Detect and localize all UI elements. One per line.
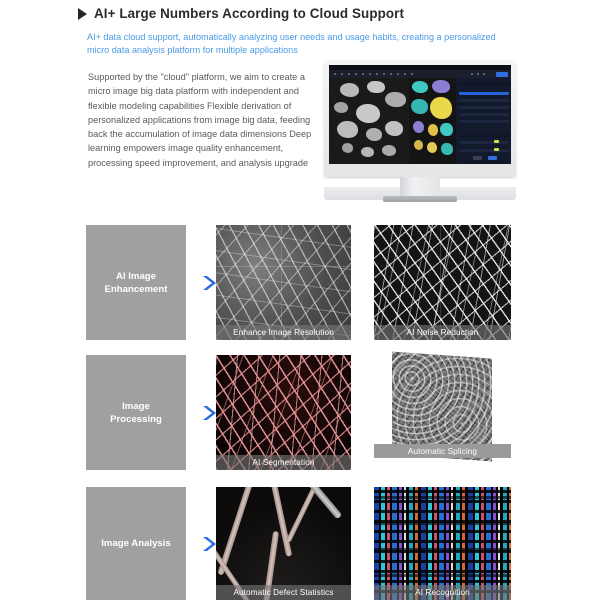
screen-data-panel	[456, 78, 511, 164]
feature-row-image-analysis: Image Analysis Automatic Defect Statisti…	[0, 487, 600, 600]
subtitle-text: AI+ data cloud support, automatically an…	[87, 31, 515, 58]
screen-segmentation-overlay	[409, 78, 456, 164]
page-title: AI+ Large Numbers According to Cloud Sup…	[94, 6, 404, 21]
row-label-line1: Image Analysis	[101, 537, 171, 550]
triangle-right-icon	[78, 8, 87, 20]
feature-cell-enhance-image-resolution[interactable]: Enhance Image Resolution	[216, 225, 351, 340]
row-label-line1: Image	[110, 400, 162, 413]
cell-caption: AI Segmentation	[216, 455, 351, 470]
monitor-stand-neck	[400, 177, 440, 198]
feature-cell-automatic-splicing[interactable]: Automatic Splicing	[374, 355, 511, 470]
screen-toolbar	[329, 70, 511, 78]
row-label-image-analysis: Image Analysis	[86, 487, 186, 600]
row-label-image-processing: Image Processing	[86, 355, 186, 470]
cell-caption: AI Noise Reduction	[374, 325, 511, 340]
row-label-line1: AI Image	[105, 270, 168, 283]
feature-cell-ai-recognition[interactable]: AI Recognition	[374, 487, 511, 600]
cell-art-branch-fibers	[216, 487, 351, 600]
cell-caption: Automatic Defect Statistics	[216, 585, 351, 600]
feature-row-ai-image-enhancement: AI Image Enhancement Enhance Image Resol…	[0, 225, 600, 340]
monitor-screen	[329, 65, 511, 164]
cell-art-fiber-grayscale	[216, 225, 351, 340]
cell-caption: AI Recognition	[374, 585, 511, 600]
screen-grayscale-image	[329, 78, 409, 164]
page-header: AI+ Large Numbers According to Cloud Sup…	[78, 6, 528, 21]
row-label-ai-image-enhancement: AI Image Enhancement	[86, 225, 186, 340]
feature-cell-automatic-defect-statistics[interactable]: Automatic Defect Statistics	[216, 487, 351, 600]
row-label-line2: Enhancement	[105, 283, 168, 296]
cell-caption: Automatic Splicing	[374, 444, 511, 458]
row-label-line2: Processing	[110, 413, 162, 426]
feature-cell-ai-noise-reduction[interactable]: AI Noise Reduction	[374, 225, 511, 340]
cell-art-colored-stripes	[374, 487, 511, 600]
monitor-stand-base	[383, 196, 457, 202]
cell-caption: Enhance Image Resolution	[216, 325, 351, 340]
screen-primary-button	[496, 72, 508, 77]
feature-row-image-processing: Image Processing AI Segmentation Automat…	[0, 355, 600, 470]
feature-cell-ai-segmentation[interactable]: AI Segmentation	[216, 355, 351, 470]
monitor-bezel	[324, 60, 516, 177]
cell-art-fiber-denoised	[374, 225, 511, 340]
cell-art-fiber-red-segmented	[216, 355, 351, 470]
body-paragraph: Supported by the "cloud" platform, we ai…	[88, 70, 312, 170]
desktop-monitor-mockup	[324, 60, 516, 200]
